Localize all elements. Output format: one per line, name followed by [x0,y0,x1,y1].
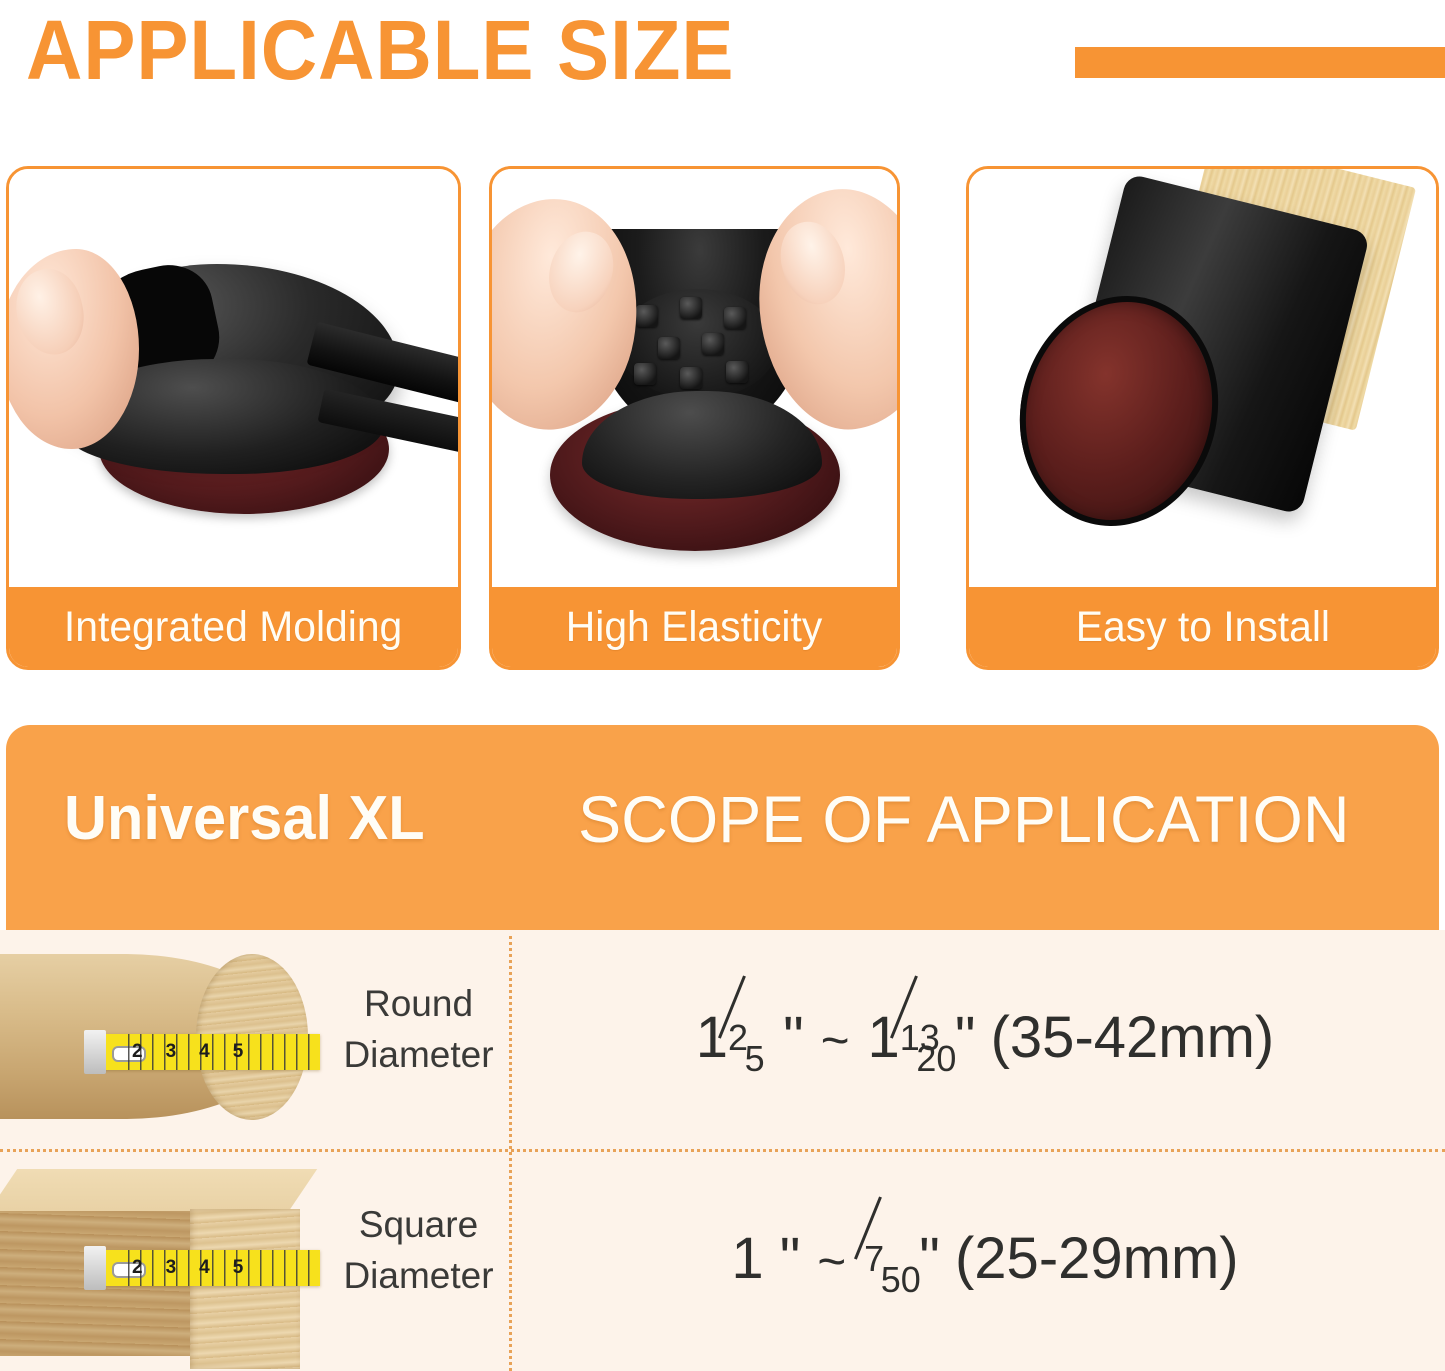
tape-number: 2 [132,1257,143,1279]
tape-number: 4 [199,1041,210,1063]
applicable-size-table: 2 3 4 5 Round Diameter 125"~11320" (35-4… [0,930,1445,1371]
value-metric: (25-29mm) [955,1226,1239,1291]
scope-banner: Universal XL SCOPE OF APPLICATION [6,725,1439,930]
grip-nub-shape [680,367,702,389]
table-row: 2 3 4 5 Square Diameter 1 "~750" (25-29m… [0,1151,1445,1371]
grip-nub-shape [636,305,658,327]
row-label-line2: Diameter [336,1250,501,1301]
column-divider-dotted [509,936,512,1371]
round-dowel-illustration: 2 3 4 5 [0,930,330,1149]
grip-nub-shape [658,337,680,359]
page-header: APPLICABLE SIZE [0,0,1445,150]
value-to-whole: 1 [868,1005,900,1070]
tape-number: 4 [199,1257,210,1279]
product-photo-integrated-molding [9,169,458,593]
grip-nub-shape [680,297,702,319]
feature-card-integrated-molding[interactable]: Integrated Molding [6,166,461,670]
tape-numbers: 2 3 4 5 [132,1041,320,1063]
feature-card-high-elasticity[interactable]: High Elasticity [489,166,900,670]
tape-hook-icon [84,1246,106,1290]
inch-mark: " [783,1005,803,1070]
row-label-square-diameter: Square Diameter [336,1199,501,1301]
page-title: APPLICABLE SIZE [26,2,734,98]
feature-card-label: Integrated Molding [64,603,402,652]
value-from-whole: 1 [731,1226,763,1291]
range-symbol: ~ [803,1013,868,1068]
grip-nub-shape [702,333,724,355]
tape-number: 3 [166,1257,177,1279]
feature-card-footer: Integrated Molding [9,587,458,667]
value-metric: (35-42mm) [991,1005,1275,1070]
feature-card-footer: High Elasticity [492,587,897,667]
grip-nub-shape [724,307,746,329]
inch-mark: " [919,1226,939,1291]
row-label-line2: Diameter [336,1029,501,1080]
tape-number: 3 [166,1041,177,1063]
value-from-fraction: 25 [728,999,783,1057]
cap-interior-shape [618,289,778,399]
grip-nub-shape [726,361,748,383]
product-photo-easy-to-install [969,169,1436,593]
value-to-fraction: 1320 [900,999,955,1057]
tape-measure: 2 3 4 5 [98,1250,320,1286]
value-from-whole: 1 [696,1005,728,1070]
tape-numbers: 2 3 4 5 [132,1257,320,1279]
banner-heading: SCOPE OF APPLICATION [578,781,1350,857]
cap-flap-shape [582,391,822,499]
tape-number: 5 [233,1041,244,1063]
value-to-fraction: 750 [864,1220,919,1278]
row-value-round-diameter: 125"~11320" (35-42mm) [540,982,1430,1097]
banner-size-name: Universal XL [64,783,425,854]
tape-number: 2 [132,1041,143,1063]
table-row: 2 3 4 5 Round Diameter 125"~11320" (35-4… [0,930,1445,1150]
feature-card-label: Easy to Install [1075,603,1329,652]
inch-mark: " [955,1005,975,1070]
inch-mark: " [780,1226,800,1291]
row-label-round-diameter: Round Diameter [336,978,501,1080]
row-label-line1: Square [336,1199,501,1250]
feature-card-easy-to-install[interactable]: Easy to Install [966,166,1439,670]
row-divider-dotted [0,1149,1445,1152]
square-beam-illustration: 2 3 4 5 [0,1151,330,1370]
tape-measure: 2 3 4 5 [98,1034,320,1070]
feature-card-row: Integrated Molding High Elast [0,166,1445,674]
feature-card-footer: Easy to Install [969,587,1436,667]
feature-card-label: High Elasticity [566,603,823,652]
range-symbol: ~ [799,1234,864,1289]
tape-hook-icon [84,1030,106,1074]
product-photo-high-elasticity [492,169,897,593]
tape-number: 5 [233,1257,244,1279]
header-accent-bar [1075,47,1445,78]
beam-end-face-shape [190,1209,300,1369]
grip-nub-shape [634,363,656,385]
row-label-line1: Round [336,978,501,1029]
row-value-square-diameter: 1 "~750" (25-29mm) [540,1203,1430,1318]
